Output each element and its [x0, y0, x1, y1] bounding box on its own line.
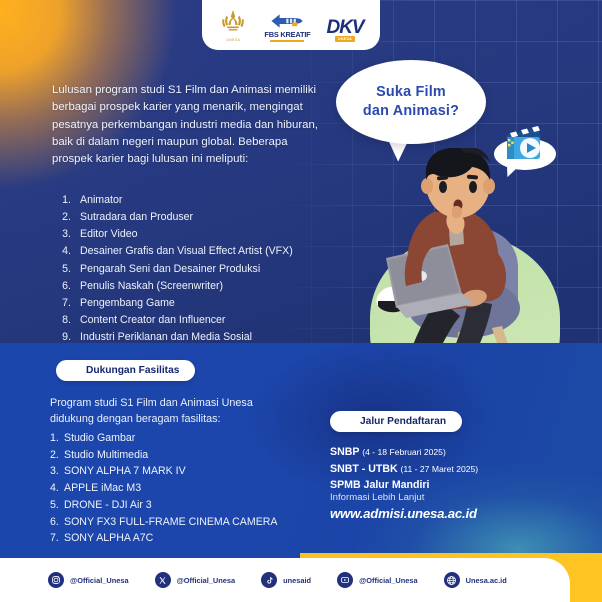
more-info-label: Informasi Lebih Lanjut — [330, 492, 424, 503]
speech-bubble: Suka Film dan Animasi? — [336, 60, 486, 144]
list-item: 6.SONY FX3 FULL-FRAME CINEMA CAMERA — [50, 514, 350, 531]
list-item: 4.Desainer Grafis dan Visual Effect Arti… — [52, 243, 342, 260]
list-item-label: APPLE iMac M3 — [64, 480, 141, 497]
facilities-intro-line-2: didukung dengan beragam fasilitas: — [50, 411, 340, 427]
youtube-icon — [337, 572, 353, 588]
list-item: 7.Pengembang Game — [52, 295, 342, 312]
admission-route-date: (4 - 18 Februari 2025) — [362, 447, 446, 457]
poster-canvas: UNESA FBS KREATIF DKV UNESA Lulusan prog… — [0, 0, 602, 602]
list-item-label: Sutradara dan Produser — [80, 209, 193, 226]
list-item: 6.Penulis Naskah (Screenwriter) — [52, 278, 342, 295]
list-item-number: 5. — [52, 261, 80, 278]
list-item: 4.APPLE iMac M3 — [50, 480, 350, 497]
list-item-number: 4. — [52, 243, 80, 260]
list-item-number: 4. — [50, 480, 64, 497]
list-item-number: 8. — [52, 312, 80, 329]
social-handle: @Official_Unesa — [359, 576, 418, 585]
list-item: 7.SONY ALPHA A7C — [50, 530, 350, 547]
social-instagram[interactable]: @Official_Unesa — [48, 572, 129, 588]
list-item-number: 5. — [50, 497, 64, 514]
career-prospects-list: 1.Animator 2.Sutradara dan Produser 3.Ed… — [52, 192, 342, 364]
list-item: 5.DRONE - DJI Air 3 — [50, 497, 350, 514]
admission-route-date: (11 - 27 Maret 2025) — [400, 464, 478, 474]
fbs-kreatif-wordmark: FBS KREATIF — [264, 31, 310, 38]
hand-icon — [270, 12, 304, 30]
list-item: 8.Content Creator dan Influencer — [52, 312, 342, 329]
facilities-badge: Dukungan Fasilitas — [56, 360, 195, 381]
logo-card: UNESA FBS KREATIF DKV UNESA — [202, 0, 380, 50]
admission-route-row: SNBT - UTBK (11 - 27 Maret 2025) — [330, 461, 580, 478]
list-item-label: Studio Gambar — [64, 430, 135, 447]
facilities-list: 1.Studio Gambar 2.Studio Multimedia 3.SO… — [50, 430, 350, 547]
admission-route-name: SPMB Jalur Mandiri — [330, 479, 429, 491]
list-item-number: 1. — [50, 430, 64, 447]
admission-route-row: SNBP (4 - 18 Februari 2025) — [330, 444, 580, 461]
list-item-number: 1. — [52, 192, 80, 209]
list-item-label: Penulis Naskah (Screenwriter) — [80, 278, 223, 295]
list-item: 5.Pengarah Seni dan Desainer Produksi — [52, 261, 342, 278]
intro-paragraph: Lulusan program studi S1 Film dan Animas… — [52, 82, 324, 169]
list-item-number: 7. — [50, 530, 64, 547]
website-globe-icon — [444, 572, 460, 588]
list-item: 3.Editor Video — [52, 226, 342, 243]
list-item-number: 6. — [50, 514, 64, 531]
admission-website-url[interactable]: www.admisi.unesa.ac.id — [330, 506, 477, 521]
admission-routes: SNBP (4 - 18 Februari 2025) SNBT - UTBK … — [330, 444, 580, 494]
list-item-label: Content Creator dan Influencer — [80, 312, 225, 329]
list-item-label: DRONE - DJI Air 3 — [64, 497, 152, 514]
list-item-label: Desainer Grafis dan Visual Effect Artist… — [80, 243, 293, 260]
facilities-intro-line-1: Program studi S1 Film dan Animasi Unesa — [50, 395, 340, 411]
clapperboard-icon — [497, 121, 553, 165]
list-item-number: 7. — [52, 295, 80, 312]
list-item-number: 3. — [52, 226, 80, 243]
admission-route-name: SNBP — [330, 446, 359, 458]
social-footer-bar: @Official_Unesa @Official_Unesa unesaid — [0, 558, 570, 602]
social-handle: unesaid — [283, 576, 311, 585]
fbs-underline-bar — [270, 40, 304, 43]
list-item-number: 6. — [52, 278, 80, 295]
list-item-label: SONY ALPHA 7 MARK IV — [64, 463, 186, 480]
list-item: 1.Studio Gambar — [50, 430, 350, 447]
list-item-label: SONY ALPHA A7C — [64, 530, 153, 547]
list-item: 2.Studio Multimedia — [50, 447, 350, 464]
instagram-icon — [48, 572, 64, 588]
speech-bubble-line-1: Suka Film — [376, 83, 446, 102]
tiktok-icon — [261, 572, 277, 588]
admission-route-name: SNBT - UTBK — [330, 463, 398, 475]
social-tiktok[interactable]: unesaid — [261, 572, 311, 588]
social-handle: @Official_Unesa — [177, 576, 236, 585]
dkv-wordmark: DKV — [326, 19, 363, 37]
unesa-crest-icon — [218, 7, 248, 37]
list-item-label: Studio Multimedia — [64, 447, 148, 464]
unesa-logo-caption: UNESA — [226, 38, 240, 42]
social-handle: @Official_Unesa — [70, 576, 129, 585]
social-youtube[interactable]: @Official_Unesa — [337, 572, 418, 588]
speech-bubble-line-2: dan Animasi? — [363, 102, 459, 121]
admission-badge: Jalur Pendaftaran — [330, 411, 462, 432]
list-item-number: 3. — [50, 463, 64, 480]
facilities-intro: Program studi S1 Film dan Animasi Unesa … — [50, 395, 340, 427]
list-item-label: SONY FX3 FULL-FRAME CINEMA CAMERA — [64, 514, 277, 531]
dkv-sub-label: UNESA — [335, 36, 355, 42]
list-item: 1.Animator — [52, 192, 342, 209]
list-item: 2.Sutradara dan Produser — [52, 209, 342, 226]
list-item-label: Pengarah Seni dan Desainer Produksi — [80, 261, 260, 278]
social-website[interactable]: Unesa.ac.id — [444, 572, 507, 588]
fbs-kreatif-logo: FBS KREATIF — [264, 12, 310, 42]
dkv-logo: DKV UNESA — [326, 19, 363, 42]
list-item-label: Pengembang Game — [80, 295, 175, 312]
unesa-logo: UNESA — [218, 7, 248, 42]
x-twitter-icon — [155, 572, 171, 588]
list-item-label: Editor Video — [80, 226, 138, 243]
social-handle: Unesa.ac.id — [466, 576, 507, 585]
social-x-twitter[interactable]: @Official_Unesa — [155, 572, 236, 588]
list-item: 3.SONY ALPHA 7 MARK IV — [50, 463, 350, 480]
list-item-number: 2. — [52, 209, 80, 226]
list-item-number: 2. — [50, 447, 64, 464]
list-item-label: Animator — [80, 192, 122, 209]
